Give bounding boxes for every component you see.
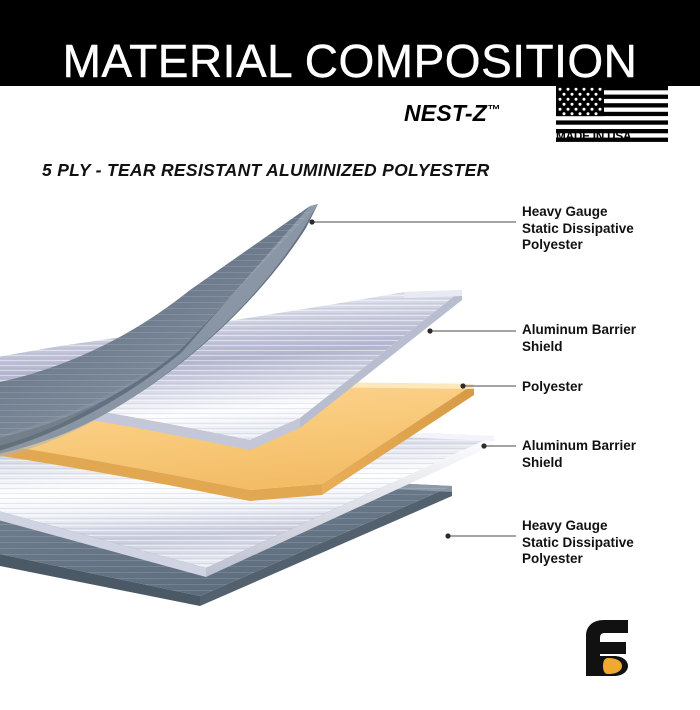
brand-label: NEST-Z [404, 100, 487, 126]
callout-aluminum-lower: Aluminum Barrier Shield [522, 438, 636, 471]
brand-name: NEST-Z™ [404, 100, 500, 127]
trademark-symbol: ™ [487, 102, 500, 117]
callout-heavy-gauge-bottom: Heavy Gauge Static Dissipative Polyester [522, 518, 634, 568]
flame-f-monogram-logo [578, 618, 632, 680]
leader-dot [445, 533, 450, 538]
callout-aluminum-upper: Aluminum Barrier Shield [522, 322, 636, 355]
page-root: MATERIAL COMPOSITION MATERIAL COMPOSITIO… [0, 0, 700, 700]
leader-dot [481, 443, 486, 448]
made-in-usa-caption: MADE IN USA [556, 131, 674, 143]
page-title: MATERIAL COMPOSITION [0, 38, 700, 84]
leader-dot [460, 383, 465, 388]
leader-dot [427, 328, 432, 333]
leader-dot [309, 219, 314, 224]
callout-polyester: Polyester [522, 379, 583, 396]
callout-heavy-gauge-top: Heavy Gauge Static Dissipative Polyester [522, 204, 634, 254]
